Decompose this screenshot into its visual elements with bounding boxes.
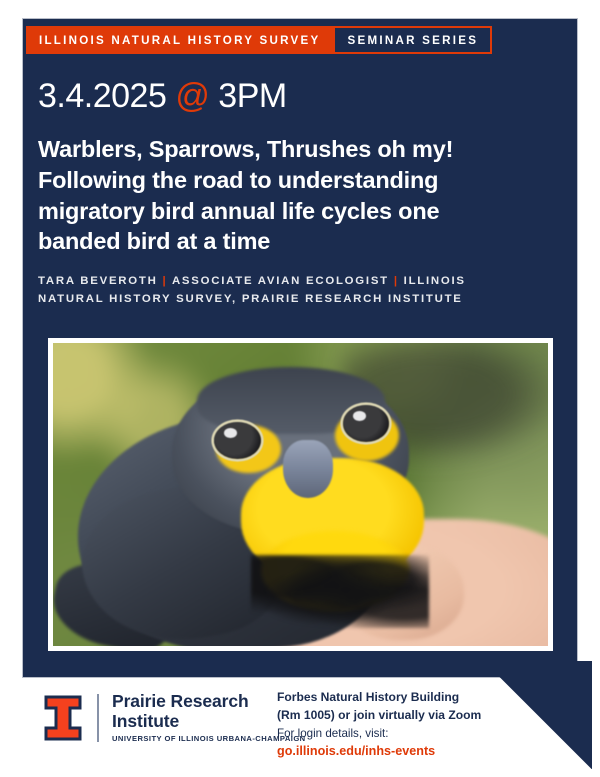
bird-photo-frame: [48, 338, 553, 651]
logo-divider: [97, 694, 99, 742]
bird-bill: [283, 440, 333, 498]
event-date: 3.4.2025: [38, 77, 166, 115]
bird-eye-glint-left: [224, 428, 237, 438]
event-datetime: 3.4.2025 @ 3PM: [38, 78, 558, 115]
venue-line-1: Forbes Natural History Building: [277, 688, 577, 706]
venue-line-2: (Rm 1005) or join virtually via Zoom: [277, 706, 577, 724]
banner-primary-label: ILLINOIS NATURAL HISTORY SURVEY: [39, 34, 320, 47]
seminar-poster: ILLINOIS NATURAL HISTORY SURVEY SEMINAR …: [0, 0, 600, 777]
banner-secondary-label: SEMINAR SERIES: [347, 34, 478, 47]
talk-title-line-4: banded bird at a time: [38, 226, 568, 257]
speaker-role: ASSOCIATE AVIAN ECOLOGIST: [172, 275, 389, 287]
bird-photo: [53, 343, 548, 646]
banner-primary-block: ILLINOIS NATURAL HISTORY SURVEY: [26, 26, 333, 54]
at-symbol: @: [175, 77, 209, 115]
bird-black-necklace: [251, 555, 429, 628]
bird-eye-glint-right: [353, 411, 366, 421]
banner-secondary-block: SEMINAR SERIES: [333, 26, 492, 54]
credit-separator-1: |: [163, 275, 168, 287]
speaker-affiliation-tail: NATURAL HISTORY SURVEY, PRAIRIE RESEARCH…: [38, 293, 463, 305]
credit-separator-2: |: [394, 275, 399, 287]
venue-line-3: For login details, visit:: [277, 725, 577, 743]
speaker-name: TARA BEVEROTH: [38, 275, 158, 287]
talk-title: Warblers, Sparrows, Thrushes oh my! Foll…: [38, 134, 568, 257]
talk-title-line-3: migratory bird annual life cycles one: [38, 196, 568, 227]
speaker-affiliation-head: ILLINOIS: [404, 275, 466, 287]
bird-eye-right: [343, 405, 390, 442]
venue-details: Forbes Natural History Building (Rm 1005…: [277, 688, 577, 761]
talk-title-line-1: Warblers, Sparrows, Thrushes oh my!: [38, 134, 568, 165]
event-time: 3PM: [218, 77, 286, 115]
header-banner: ILLINOIS NATURAL HISTORY SURVEY SEMINAR …: [26, 26, 492, 54]
event-url-link[interactable]: go.illinois.edu/inhs-events: [277, 742, 577, 761]
speaker-credit: TARA BEVEROTH | ASSOCIATE AVIAN ECOLOGIS…: [38, 272, 538, 309]
illinois-block-i-icon: [44, 695, 82, 741]
institution-logo-lockup: Prairie Research Institute UNIVERSITY OF…: [44, 692, 306, 743]
talk-title-line-2: Following the road to understanding: [38, 165, 568, 196]
